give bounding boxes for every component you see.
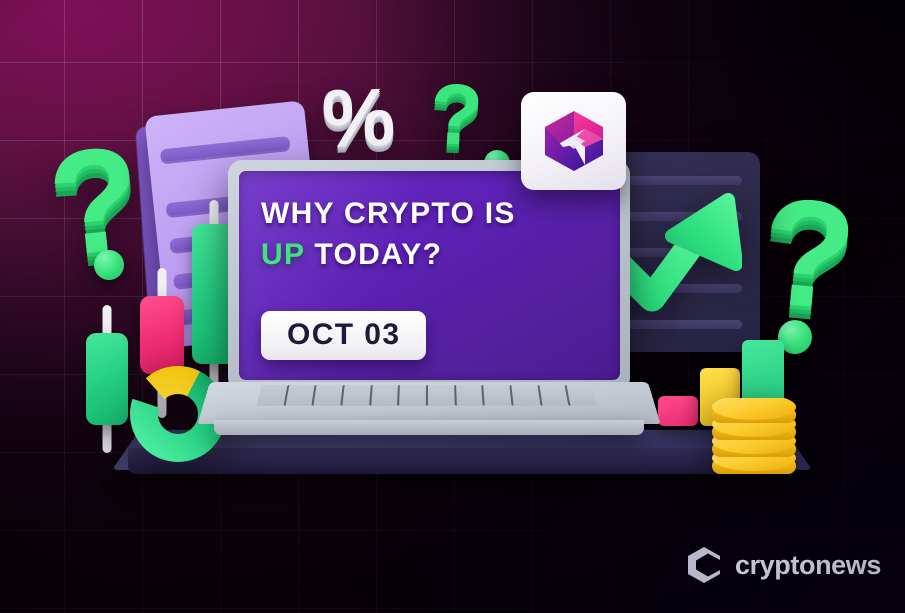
candlestick-body — [86, 333, 128, 425]
candlestick-green-1 — [86, 305, 128, 453]
question-mark-icon-right: ? — [756, 174, 862, 334]
keyboard-key — [257, 385, 287, 406]
keyboard-key — [397, 385, 426, 406]
bar-chart-bar-pink — [658, 396, 698, 426]
keyboard-key — [482, 385, 512, 406]
poster-canvas: ? ? % ? — [0, 0, 905, 613]
headline-up-word: UP — [261, 238, 305, 271]
brand-name: cryptonews — [735, 552, 881, 579]
cryptonews-mark-icon — [684, 545, 724, 585]
keyboard-key — [283, 385, 315, 406]
coin-stack-icon — [706, 398, 802, 486]
laptop-keyboard — [257, 385, 598, 406]
date-badge: OCT 03 — [261, 311, 426, 360]
coin-1 — [712, 398, 796, 423]
keyboard-key — [509, 385, 540, 406]
headline-line-2: UP TODAY? — [261, 236, 606, 273]
percent-symbol-icon: % — [321, 77, 397, 161]
document-text-line — [160, 136, 291, 163]
laptop-base — [210, 382, 648, 456]
question-mark-icon-middle: ? — [428, 71, 485, 160]
keyboard-key — [369, 385, 398, 406]
headline-rest: TODAY? — [305, 238, 442, 271]
keyboard-key — [312, 385, 343, 406]
headline-line-1: WHY CRYPTO IS — [261, 197, 516, 230]
green-dot-left — [94, 250, 124, 280]
keyboard-key — [565, 385, 597, 406]
laptop-base-edge — [214, 420, 644, 435]
laptop-screen: WHY CRYPTO IS UP TODAY? OCT 03 — [239, 171, 620, 380]
headline: WHY CRYPTO IS UP TODAY? — [261, 195, 606, 273]
cryptonews-logo-icon — [541, 109, 607, 173]
keyboard-key — [454, 385, 483, 406]
keyboard-key — [340, 385, 370, 406]
brand-watermark: cryptonews — [684, 545, 881, 585]
date-badge-label: OCT 03 — [287, 320, 400, 350]
keyboard-key — [426, 385, 455, 406]
laptop: WHY CRYPTO IS UP TODAY? OCT 03 — [228, 160, 648, 470]
laptop-keyboard-deck — [198, 382, 661, 424]
laptop-lid: WHY CRYPTO IS UP TODAY? OCT 03 — [228, 160, 630, 392]
keyboard-key — [537, 385, 569, 406]
app-icon-tile — [521, 92, 626, 190]
